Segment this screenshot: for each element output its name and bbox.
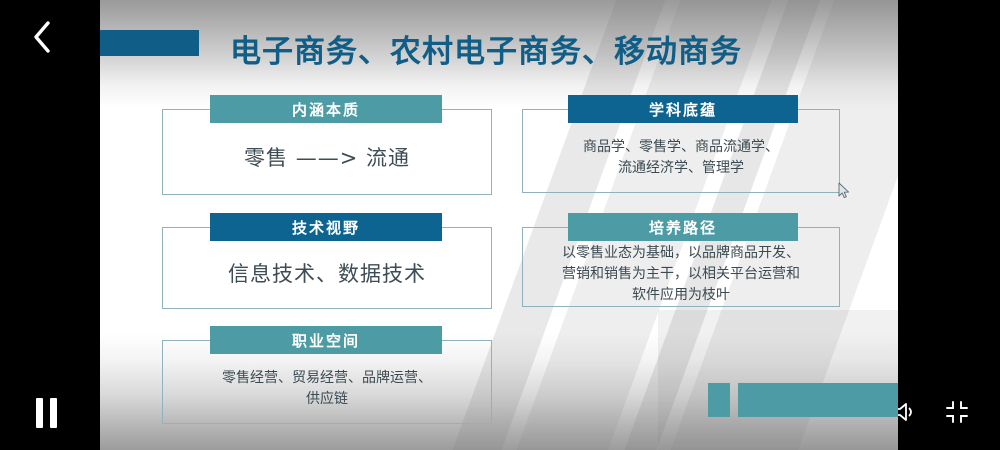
card-header-label: 培养路径 — [568, 213, 798, 241]
card-header-label: 技术视野 — [210, 213, 442, 241]
pause-icon — [36, 398, 57, 428]
card-peiyang-lujing: 培养路径 以零售业态为基础，以品牌商品开发、 营销和销售为主干，以相关平台运营和… — [522, 213, 840, 307]
card-header-label: 职业空间 — [210, 326, 442, 354]
pause-button[interactable] — [26, 396, 66, 430]
slide-canvas: 电子商务、农村电子商务、移动商务 内涵本质 零售 ——> 流通 技术视野 信息技… — [100, 0, 898, 450]
card-body-text: 零售经营、贸易经营、品牌运营、 供应链 — [170, 360, 484, 418]
card-body-text: 信息技术、数据技术 — [170, 247, 484, 303]
card-xueke-diyun: 学科底蕴 商品学、零售学、商品流通学、 流通经济学、管理学 — [522, 95, 840, 193]
card-jishu-shiye: 技术视野 信息技术、数据技术 — [162, 213, 492, 309]
back-button[interactable] — [14, 12, 70, 62]
page-title: 电子商务、农村电子商务、移动商务 — [230, 26, 742, 71]
decorative-teal-square — [708, 383, 730, 417]
decorative-teal-bar — [738, 383, 898, 417]
title-accent-chip — [100, 30, 199, 56]
card-header-label: 内涵本质 — [210, 95, 442, 123]
card-body-text: 商品学、零售学、商品流通学、 流通经济学、管理学 — [530, 129, 832, 187]
card-zhiye-kongjian: 职业空间 零售经营、贸易经营、品牌运营、 供应链 — [162, 326, 492, 424]
card-body-text: 零售 ——> 流通 — [170, 129, 484, 189]
card-neihan-benzhi: 内涵本质 零售 ——> 流通 — [162, 95, 492, 195]
card-body-text: 以零售业态为基础，以品牌商品开发、 营销和销售为主干，以相关平台运营和 软件应用… — [530, 247, 832, 301]
mouse-cursor-icon — [838, 182, 851, 205]
chevron-left-icon — [30, 20, 54, 54]
exit-fullscreen-button[interactable] — [938, 398, 976, 430]
video-player: 电子商务、农村电子商务、移动商务 内涵本质 零售 ——> 流通 技术视野 信息技… — [0, 0, 1000, 450]
card-header-label: 学科底蕴 — [568, 95, 798, 123]
exit-fullscreen-icon — [945, 400, 969, 429]
